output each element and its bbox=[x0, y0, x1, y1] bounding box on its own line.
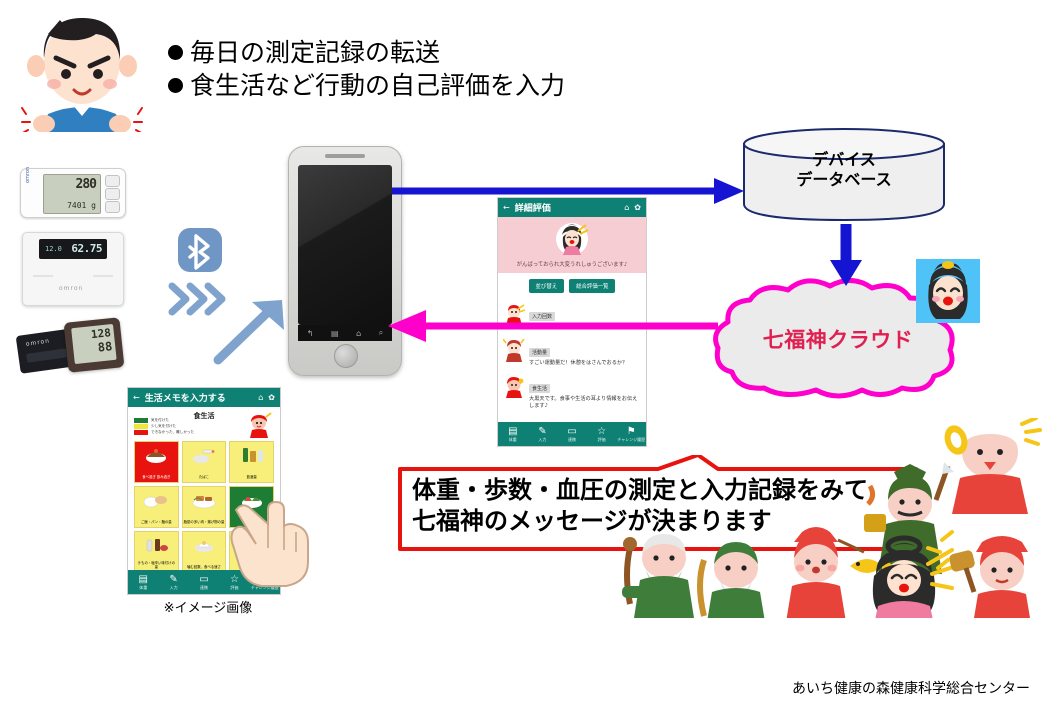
scale-electrode-right bbox=[93, 275, 113, 277]
phone-screen bbox=[298, 165, 392, 325]
cloud-label: 七福神クラウド bbox=[712, 324, 964, 354]
header-bullet-list: 毎日の測定記録の転送 食生活など行動の自己評価を入力 bbox=[168, 36, 688, 102]
nav-item-input[interactable]: ✎入力 bbox=[528, 426, 558, 442]
list-item[interactable]: 食生活 大黒天です。食事や生活の耳より情報をお伝えします♪ bbox=[498, 371, 646, 414]
bp-cuff-stripe bbox=[26, 348, 67, 362]
benzaiten-character-icon bbox=[554, 221, 590, 257]
list-item-tag: 食生活 bbox=[529, 384, 550, 393]
database-label-line1: デバイス bbox=[740, 150, 948, 170]
body-composition-scale-device: 12.0 62.75 omron bbox=[22, 232, 124, 306]
pedometer-button-mid bbox=[105, 188, 120, 200]
nav-item-input[interactable]: ✎入力 bbox=[158, 574, 188, 590]
legend-swatch bbox=[134, 430, 148, 435]
bp-brand: omron bbox=[25, 338, 50, 348]
nav-item-weight[interactable]: ▤体重 bbox=[498, 426, 528, 442]
avatar bbox=[916, 259, 980, 323]
list-item-text: すごい運動量だ！休憩をはさんでおるか？ bbox=[529, 360, 641, 367]
blood-pressure-monitor-device: omron 128 88 bbox=[18, 318, 126, 376]
pencil-icon: ✎ bbox=[158, 574, 188, 585]
nav-item-link[interactable]: ▭連携 bbox=[557, 426, 587, 442]
food-cell-label: 脂肪の多い肉・揚げ物の量 bbox=[183, 521, 226, 525]
food-cell[interactable]: 脂肪の多い肉・揚げ物の量 bbox=[182, 486, 227, 528]
list-item-text: 大黒天です。食事や生活の耳より情報をお伝えします♪ bbox=[529, 396, 641, 410]
arrow-cloud-to-phone bbox=[388, 308, 718, 344]
food-cell[interactable]: 食べ過ぎ 飲み過ぎ bbox=[134, 441, 179, 483]
nav-label: 体重 bbox=[139, 585, 147, 590]
nav-item-weight[interactable]: ▤体重 bbox=[128, 574, 158, 590]
gear-icon[interactable]: ✿ bbox=[268, 393, 275, 402]
app-food-header: ← 生活メモを入力する ⌂ ✿ bbox=[128, 388, 280, 407]
pencil-icon: ✎ bbox=[528, 426, 558, 437]
phone-search-icon[interactable]: ⌕ bbox=[379, 328, 383, 338]
bullet-dot-icon bbox=[168, 45, 183, 60]
arrow-database-to-cloud bbox=[828, 224, 864, 286]
nav-label: 体重 bbox=[509, 437, 517, 442]
weight-icon: ▤ bbox=[128, 574, 158, 585]
pointing-hand-illustration bbox=[228, 492, 312, 588]
app-detail-banner: がんばっておられ大変うれしゅうございます♪ bbox=[498, 217, 646, 273]
app-food-title: 生活メモを入力する bbox=[145, 391, 254, 404]
food-cell[interactable]: 噛む回数、食べる速さ bbox=[182, 531, 227, 573]
legend-label: 気を付けた bbox=[151, 418, 169, 423]
nav-label: 連携 bbox=[200, 585, 208, 590]
food-cell[interactable]: たばこ bbox=[182, 441, 227, 483]
boy-illustration bbox=[18, 14, 146, 132]
phone-speaker bbox=[325, 154, 365, 158]
legend-row: 気を付けた bbox=[134, 418, 194, 423]
device-icon: ▭ bbox=[557, 426, 587, 437]
footer-credit: あいち健康の森健康科学総合センター bbox=[0, 678, 1030, 698]
smartphone-device: ↰ ▤ ⌂ ⌕ bbox=[288, 146, 402, 376]
phone-trackball[interactable] bbox=[334, 344, 358, 368]
legend-row: 少し気を付けた bbox=[134, 424, 194, 429]
scale-brand: omron bbox=[59, 285, 83, 292]
food-cell-label: 汁もの・塩辛い味付けの量 bbox=[135, 562, 178, 570]
device-database-cylinder: デバイス データベース bbox=[740, 126, 948, 222]
food-cell-label: たばこ bbox=[198, 476, 210, 480]
diagonal-arrow-to-phone-icon bbox=[212, 296, 292, 366]
phone-back-icon[interactable]: ↰ bbox=[307, 329, 314, 338]
pedometer-sub-value: 7401 g bbox=[67, 201, 96, 210]
home-icon[interactable]: ⌂ bbox=[258, 393, 263, 402]
back-icon[interactable]: ← bbox=[133, 393, 140, 402]
legend-swatch bbox=[134, 418, 148, 423]
food-cell[interactable]: ご飯・パン・麺の量 bbox=[134, 486, 179, 528]
legend-row: できなかった、難しかった bbox=[134, 430, 194, 435]
phone-softkey-bar: ↰ ▤ ⌂ ⌕ bbox=[298, 325, 392, 341]
app-detail-button-row: 並び替え 総合評価一覧 bbox=[498, 273, 646, 299]
pedometer-button-top bbox=[105, 175, 120, 187]
header-bullet-2-text: 食生活など行動の自己評価を入力 bbox=[190, 71, 565, 100]
header-bullet-1-text: 毎日の測定記録の転送 bbox=[190, 38, 440, 67]
bp-display: 128 88 bbox=[71, 324, 117, 364]
app-food-legend: 気を付けた 少し気を付けた できなかった、難しかった bbox=[134, 418, 194, 436]
image-caption: ※イメージ画像 bbox=[138, 597, 278, 616]
scale-display: 12.0 62.75 bbox=[39, 239, 107, 259]
overall-evaluation-list-button[interactable]: 総合評価一覧 bbox=[569, 279, 615, 293]
app-detail-banner-message: がんばっておられ大変うれしゅうございます♪ bbox=[498, 260, 646, 268]
sort-button[interactable]: 並び替え bbox=[529, 279, 565, 293]
pedometer-step-value: 280 bbox=[76, 177, 96, 192]
bp-diastolic-value: 88 bbox=[97, 339, 113, 354]
phone-menu-icon[interactable]: ▤ bbox=[331, 329, 339, 338]
pedometer-button-bottom bbox=[105, 201, 120, 213]
pedometer-device: omron 280 7401 g bbox=[20, 168, 126, 218]
back-icon[interactable]: ← bbox=[503, 203, 510, 212]
pedometer-brand: omron bbox=[25, 167, 31, 183]
scale-weight-value: 62.75 bbox=[71, 242, 102, 255]
scale-electrode-left bbox=[33, 275, 53, 277]
food-cell[interactable]: 飲酒量 bbox=[229, 441, 274, 483]
seven-lucky-gods-illustration bbox=[612, 418, 1047, 618]
legend-label: できなかった、難しかった bbox=[151, 430, 194, 435]
nav-label: 評価 bbox=[598, 437, 606, 442]
scale-sub-value: 12.0 bbox=[45, 245, 62, 253]
header-bullet-1: 毎日の測定記録の転送 bbox=[168, 36, 688, 69]
gear-icon[interactable]: ✿ bbox=[634, 203, 641, 212]
nav-label: 入力 bbox=[170, 585, 178, 590]
legend-label: 少し気を付けた bbox=[151, 424, 176, 429]
database-label-line2: データベース bbox=[740, 170, 948, 190]
nav-item-link[interactable]: ▭連携 bbox=[189, 574, 219, 590]
device-icon: ▭ bbox=[189, 574, 219, 585]
food-cell[interactable]: 汁もの・塩辛い味付けの量 bbox=[134, 531, 179, 573]
list-item-tag: 活動量 bbox=[529, 348, 550, 357]
bp-main-unit: 128 88 bbox=[64, 317, 125, 373]
pedometer-display: 280 7401 g bbox=[43, 174, 101, 214]
nav-label: 連携 bbox=[568, 437, 576, 442]
database-label: デバイス データベース bbox=[740, 150, 948, 190]
legend-swatch bbox=[134, 424, 148, 429]
god-avatar-icon bbox=[503, 375, 525, 399]
bluetooth-icon bbox=[178, 228, 222, 272]
food-cell-label: 飲酒量 bbox=[246, 476, 258, 480]
arrow-phone-to-database bbox=[392, 178, 744, 204]
nav-label: 入力 bbox=[538, 437, 546, 442]
header-bullet-2: 食生活など行動の自己評価を入力 bbox=[168, 69, 688, 102]
phone-home-icon[interactable]: ⌂ bbox=[356, 329, 361, 338]
home-icon[interactable]: ⌂ bbox=[624, 203, 629, 212]
daikokuten-character-icon bbox=[246, 412, 272, 438]
weight-icon: ▤ bbox=[498, 426, 528, 437]
bullet-dot-icon bbox=[168, 78, 183, 93]
food-cell-label: ご飯・パン・麺の量 bbox=[140, 521, 173, 525]
food-cell-label: 食べ過ぎ 飲み過ぎ bbox=[141, 476, 171, 480]
